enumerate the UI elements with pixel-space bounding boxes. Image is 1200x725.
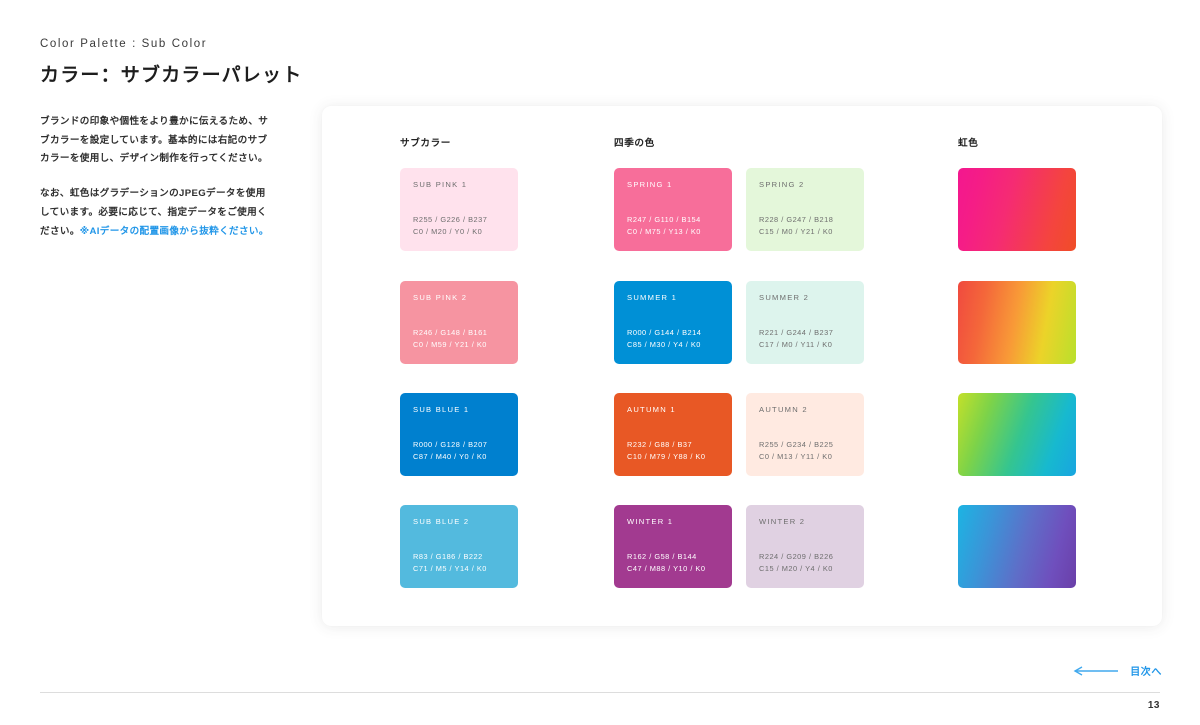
swatch-label: SUMMER 2 (759, 294, 851, 302)
swatch-values: R247 / G110 / B154 C0 / M75 / Y13 / K0 (627, 214, 701, 238)
rainbow-gradient-4[interactable] (958, 505, 1076, 588)
swatch-cmyk: C17 / M0 / Y11 / K0 (759, 339, 833, 351)
arrow-left-icon (1073, 666, 1119, 676)
swatch-sub-pink-2[interactable]: SUB PINK 2 R246 / G148 / B161 C0 / M59 /… (400, 281, 518, 364)
swatch-values: R000 / G144 / B214 C85 / M30 / Y4 / K0 (627, 327, 701, 351)
eyebrow-title: Color Palette : Sub Color (40, 38, 290, 50)
swatch-rgb: R246 / G148 / B161 (413, 327, 487, 339)
swatch-summer-1[interactable]: SUMMER 1 R000 / G144 / B214 C85 / M30 / … (614, 281, 732, 364)
column-heading-sub: サブカラー (400, 135, 451, 149)
swatch-cmyk: C15 / M20 / Y4 / K0 (759, 563, 833, 575)
swatch-rgb: R000 / G144 / B214 (627, 327, 701, 339)
swatch-autumn-2[interactable]: AUTUMN 2 R255 / G234 / B225 C0 / M13 / Y… (746, 393, 864, 476)
swatch-rgb: R255 / G226 / B237 (413, 214, 487, 226)
rainbow-gradient-3[interactable] (958, 393, 1076, 476)
swatch-label: AUTUMN 1 (627, 406, 719, 414)
swatch-values: R246 / G148 / B161 C0 / M59 / Y21 / K0 (413, 327, 487, 351)
back-to-index-label: 目次へ (1130, 663, 1162, 678)
swatch-label: AUTUMN 2 (759, 406, 851, 414)
swatch-label: WINTER 1 (627, 518, 719, 526)
page-title: カラー：サブカラーパレット (40, 60, 290, 87)
column-heading-season: 四季の色 (614, 135, 655, 149)
swatch-cmyk: C87 / M40 / Y0 / K0 (413, 451, 487, 463)
swatch-label: SUB BLUE 1 (413, 406, 505, 414)
swatch-label: SPRING 1 (627, 181, 719, 189)
swatch-cmyk: C10 / M79 / Y88 / K0 (627, 451, 705, 463)
swatch-values: R224 / G209 / B226 C15 / M20 / Y4 / K0 (759, 551, 833, 575)
description-paragraph-1: ブランドの印象や個性をより豊かに伝えるため、サブカラーを設定しています。基本的に… (40, 113, 272, 169)
swatch-values: R255 / G226 / B237 C0 / M20 / Y0 / K0 (413, 214, 487, 238)
swatch-label: SUMMER 1 (627, 294, 719, 302)
swatch-autumn-1[interactable]: AUTUMN 1 R232 / G88 / B37 C10 / M79 / Y8… (614, 393, 732, 476)
palette-panel: サブカラー 四季の色 虹色 SUB PINK 1 R255 / G226 / B… (322, 106, 1162, 626)
left-column: Color Palette : Sub Color カラー：サブカラーパレット … (40, 38, 290, 241)
swatch-summer-2[interactable]: SUMMER 2 R221 / G244 / B237 C17 / M0 / Y… (746, 281, 864, 364)
swatch-cmyk: C15 / M0 / Y21 / K0 (759, 226, 833, 238)
swatch-values: R000 / G128 / B207 C87 / M40 / Y0 / K0 (413, 439, 487, 463)
swatch-values: R232 / G88 / B37 C10 / M79 / Y88 / K0 (627, 439, 705, 463)
swatch-cmyk: C85 / M30 / Y4 / K0 (627, 339, 701, 351)
swatch-values: R228 / G247 / B218 C15 / M0 / Y21 / K0 (759, 214, 833, 238)
swatch-rgb: R228 / G247 / B218 (759, 214, 833, 226)
footer-divider (40, 692, 1160, 693)
description-accent-note: ※AIデータの配置画像から抜粋ください。 (80, 226, 269, 237)
swatch-rgb: R224 / G209 / B226 (759, 551, 833, 563)
rainbow-gradient-1[interactable] (958, 168, 1076, 251)
swatch-sub-blue-1[interactable]: SUB BLUE 1 R000 / G128 / B207 C87 / M40 … (400, 393, 518, 476)
swatch-sub-blue-2[interactable]: SUB BLUE 2 R83 / G186 / B222 C71 / M5 / … (400, 505, 518, 588)
swatch-cmyk: C47 / M88 / Y10 / K0 (627, 563, 705, 575)
swatch-rgb: R000 / G128 / B207 (413, 439, 487, 451)
swatch-label: SUB PINK 1 (413, 181, 505, 189)
swatch-label: WINTER 2 (759, 518, 851, 526)
swatch-rgb: R162 / G58 / B144 (627, 551, 705, 563)
swatch-rgb: R255 / G234 / B225 (759, 439, 833, 451)
swatch-rgb: R232 / G88 / B37 (627, 439, 705, 451)
swatch-cmyk: C0 / M13 / Y11 / K0 (759, 451, 833, 463)
swatch-spring-2[interactable]: SPRING 2 R228 / G247 / B218 C15 / M0 / Y… (746, 168, 864, 251)
swatch-values: R255 / G234 / B225 C0 / M13 / Y11 / K0 (759, 439, 833, 463)
back-to-index-link[interactable]: 目次へ (1073, 663, 1162, 678)
swatch-label: SUB BLUE 2 (413, 518, 505, 526)
description-paragraph-2: なお、虹色はグラデーションのJPEGデータを使用しています。必要に応じて、指定デ… (40, 185, 272, 241)
swatch-winter-1[interactable]: WINTER 1 R162 / G58 / B144 C47 / M88 / Y… (614, 505, 732, 588)
rainbow-gradient-2[interactable] (958, 281, 1076, 364)
swatch-values: R162 / G58 / B144 C47 / M88 / Y10 / K0 (627, 551, 705, 575)
swatch-winter-2[interactable]: WINTER 2 R224 / G209 / B226 C15 / M20 / … (746, 505, 864, 588)
swatch-cmyk: C0 / M20 / Y0 / K0 (413, 226, 487, 238)
swatch-rgb: R221 / G244 / B237 (759, 327, 833, 339)
swatch-rgb: R83 / G186 / B222 (413, 551, 487, 563)
swatch-cmyk: C0 / M59 / Y21 / K0 (413, 339, 487, 351)
swatch-label: SUB PINK 2 (413, 294, 505, 302)
swatch-sub-pink-1[interactable]: SUB PINK 1 R255 / G226 / B237 C0 / M20 /… (400, 168, 518, 251)
description-block: ブランドの印象や個性をより豊かに伝えるため、サブカラーを設定しています。基本的に… (40, 113, 290, 241)
swatch-rgb: R247 / G110 / B154 (627, 214, 701, 226)
swatch-values: R221 / G244 / B237 C17 / M0 / Y11 / K0 (759, 327, 833, 351)
swatch-label: SPRING 2 (759, 181, 851, 189)
column-heading-rainbow: 虹色 (958, 135, 978, 149)
swatch-spring-1[interactable]: SPRING 1 R247 / G110 / B154 C0 / M75 / Y… (614, 168, 732, 251)
page-number: 13 (1148, 700, 1160, 711)
swatch-values: R83 / G186 / B222 C71 / M5 / Y14 / K0 (413, 551, 487, 575)
swatch-cmyk: C71 / M5 / Y14 / K0 (413, 563, 487, 575)
swatch-cmyk: C0 / M75 / Y13 / K0 (627, 226, 701, 238)
